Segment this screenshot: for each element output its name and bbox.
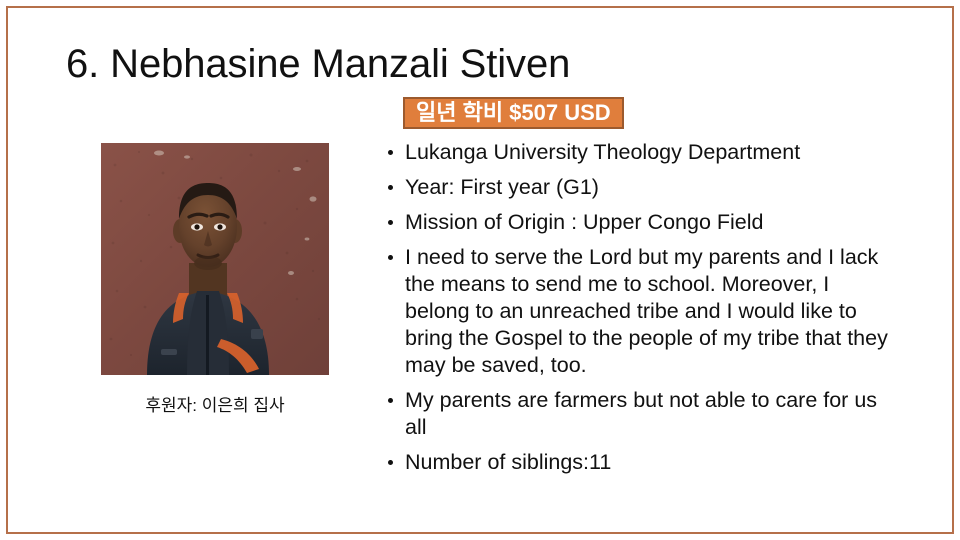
photo-caption: 후원자: 이은희 집사 bbox=[71, 395, 359, 417]
list-item: Lukanga University Theology Department bbox=[384, 139, 896, 166]
student-photo-block: 후원자: 이은희 집사 bbox=[101, 143, 329, 375]
list-item: I need to serve the Lord but my parents … bbox=[384, 244, 896, 379]
status-badge: 일년 학비 $507 USD bbox=[403, 97, 624, 129]
student-photo bbox=[101, 143, 329, 375]
list-item: Number of siblings:11 bbox=[384, 449, 896, 476]
student-detail-list: Lukanga University Theology Department Y… bbox=[384, 139, 896, 476]
list-item: Mission of Origin : Upper Congo Field bbox=[384, 209, 896, 236]
list-item: Year: First year (G1) bbox=[384, 174, 896, 201]
presentation-slide: 6. Nebhasine Manzali Stiven bbox=[0, 0, 960, 540]
list-item: My parents are farmers but not able to c… bbox=[384, 387, 896, 441]
page-title: 6. Nebhasine Manzali Stiven bbox=[66, 40, 570, 88]
